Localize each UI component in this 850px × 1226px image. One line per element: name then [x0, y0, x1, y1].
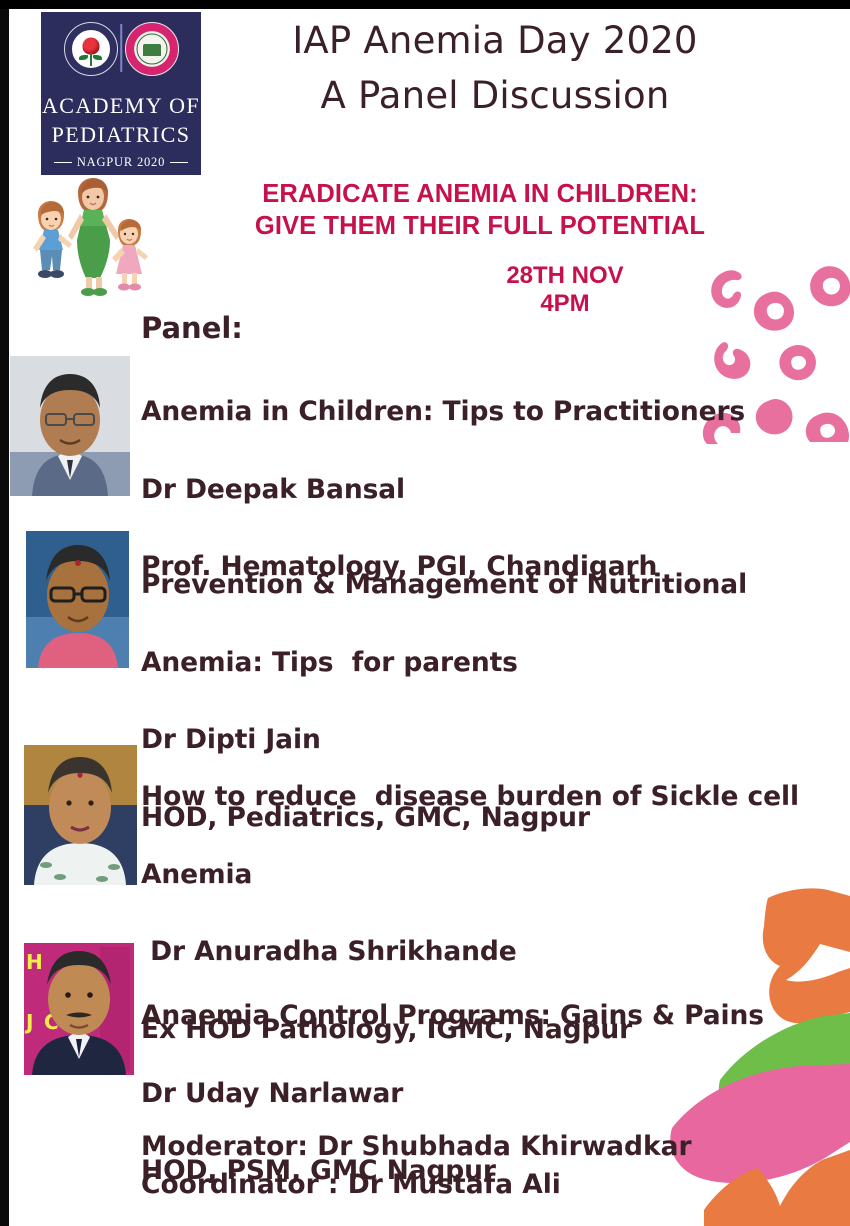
logo-city-year: NAGPUR 2020 [77, 155, 165, 170]
photo-dr-anuradha-shrikhande [24, 745, 137, 885]
boy-figure [33, 201, 72, 278]
coordinator-line: Coordinator : Dr Mustafa Ali [141, 1166, 692, 1204]
top-edge-strip [0, 0, 850, 9]
event-time: 4PM [400, 290, 730, 318]
logo-text-line-1: ACADEMY OF [41, 93, 201, 119]
moderator-line: Moderator: Dr Shubhada Khirwadkar [141, 1128, 692, 1166]
slogan-line-2: GIVE THEM THEIR FULL POTENTIAL [175, 210, 785, 242]
speaker-topic: Anaemia Control Programs: Gains & Pains [141, 996, 764, 1036]
slogan-line-1: ERADICATE ANEMIA IN CHILDREN: [175, 178, 785, 210]
title-line-1: IAP Anemia Day 2020 [215, 14, 775, 69]
academy-of-pediatrics-nagpur-emblem [125, 22, 179, 76]
girl-figure [112, 219, 148, 291]
mother-figure [68, 178, 120, 296]
event-datetime: 28TH NOV 4PM [400, 262, 730, 319]
svg-text:J: J [24, 1010, 33, 1034]
speaker-entry: Prevention & Management of Nutritional A… [26, 531, 836, 677]
leaf-right-icon [93, 55, 102, 60]
speaker-name: Dr Uday Narlawar [141, 1074, 764, 1114]
speaker-name: Dr Deepak Bansal [141, 470, 745, 510]
speaker-entry: How to reduce disease burden of Sickle c… [24, 745, 834, 891]
stem-icon [90, 53, 92, 66]
left-edge-strip [0, 0, 9, 1226]
academy-logo-card: ACADEMY OF PEDIATRICS NAGPUR 2020 [41, 12, 201, 175]
title-line-2: A Panel Discussion [215, 69, 775, 124]
speaker-topic-cont: Anemia [141, 855, 799, 895]
speaker-topic-cont: Anemia: Tips for parents [141, 643, 747, 683]
logo-text-line-3: NAGPUR 2020 [41, 155, 201, 170]
speaker-topic: Anemia in Children: Tips to Practitioner… [141, 392, 745, 432]
poster-slogan: ERADICATE ANEMIA IN CHILDREN: GIVE THEM … [175, 178, 785, 242]
rose-icon [82, 37, 99, 54]
poster-canvas: ACADEMY OF PEDIATRICS NAGPUR 2020 [0, 0, 850, 1226]
photo-dr-uday-narlawar: H J C [24, 943, 134, 1075]
photo-dr-dipti-jain [26, 531, 129, 668]
speaker-topic: Prevention & Management of Nutritional [141, 565, 747, 605]
poster-footer: Moderator: Dr Shubhada Khirwadkar Coordi… [141, 1128, 692, 1204]
speaker-entry: H J C Anaemia Control Programs: Gains & … [24, 943, 834, 1083]
photo-dr-deepak-bansal [10, 356, 130, 496]
speaker-entry: Anemia in Children: Tips to Practitioner… [10, 356, 840, 506]
event-date: 28TH NOV [400, 262, 730, 290]
indian-academy-of-pediatrics-emblem [64, 22, 118, 76]
family-illustration [22, 178, 152, 300]
svg-text:H: H [26, 950, 43, 974]
building-icon [143, 44, 161, 56]
logo-divider [120, 24, 122, 72]
poster-title: IAP Anemia Day 2020 A Panel Discussion [215, 14, 775, 124]
panel-label: Panel: [141, 311, 243, 346]
speaker-topic: How to reduce disease burden of Sickle c… [141, 777, 799, 817]
logo-text-line-2: PEDIATRICS [41, 122, 201, 148]
